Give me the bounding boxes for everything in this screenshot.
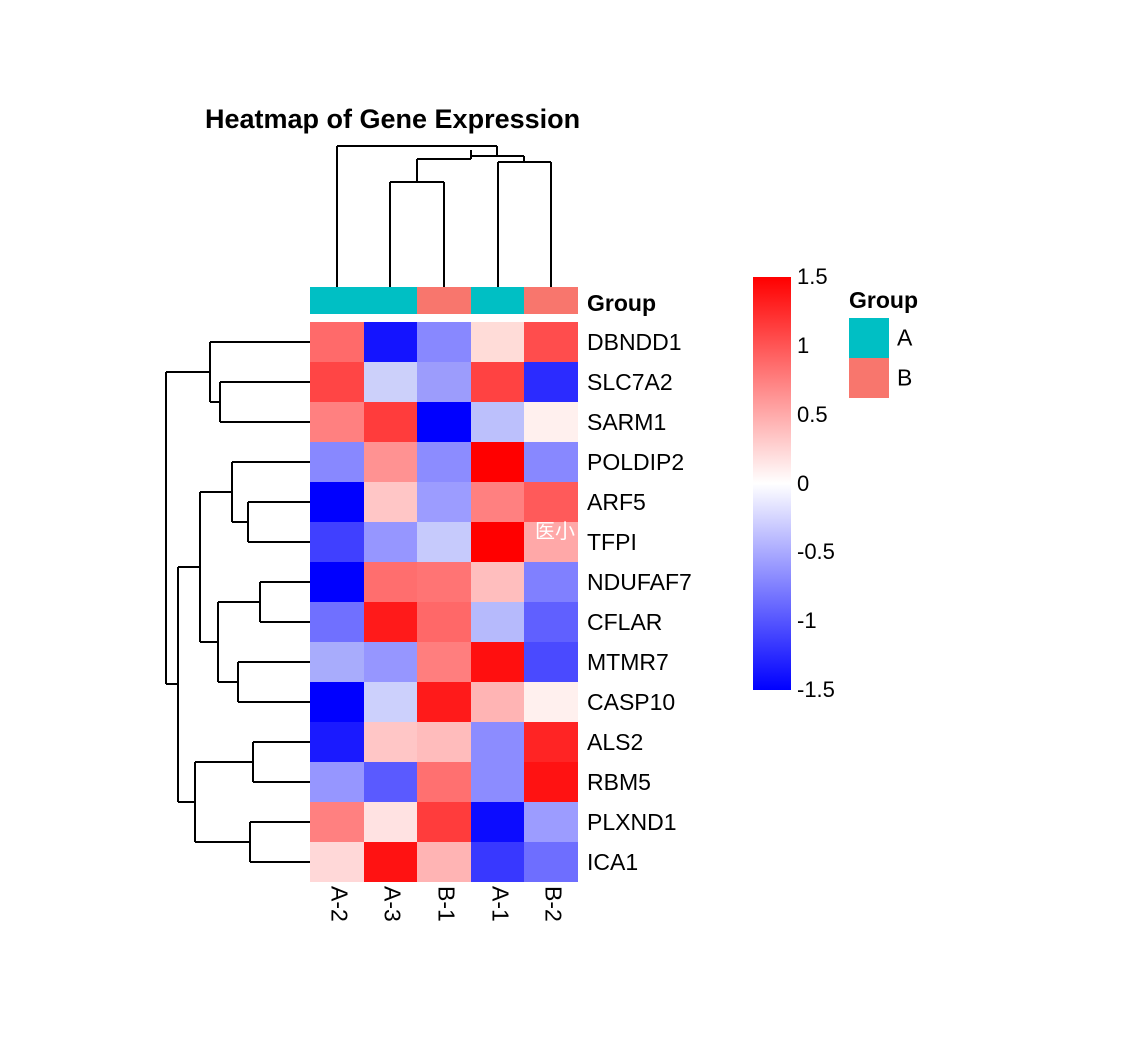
- heatmap-cell: [417, 482, 471, 522]
- heatmap-cell: [524, 442, 578, 482]
- heatmap-cell: [417, 762, 471, 802]
- heatmap-cell: [310, 362, 364, 402]
- heatmap-cell: [364, 522, 418, 562]
- row-label-als2: ALS2: [587, 722, 767, 762]
- heatmap-cell: [417, 442, 471, 482]
- colorbar-tick: 0.5: [797, 404, 828, 426]
- row-dendrogram: [160, 322, 310, 882]
- heatmap-cell: [417, 322, 471, 362]
- row-label-cflar: CFLAR: [587, 602, 767, 642]
- column-labels: A-2A-3B-1A-1B-2: [310, 886, 578, 966]
- legend-swatch-a: [849, 318, 889, 358]
- heatmap-cell: [417, 522, 471, 562]
- heatmap-cell: [417, 682, 471, 722]
- group-annotation-cell: [364, 287, 418, 314]
- heatmap-cell: [310, 562, 364, 602]
- heatmap-cell: [364, 802, 418, 842]
- heatmap-cell: [524, 562, 578, 602]
- column-label-a-3: A-3: [381, 886, 404, 922]
- colorbar-tick: 0: [797, 473, 809, 495]
- group-annotation-cell: [310, 287, 364, 314]
- heatmap-cell: [310, 442, 364, 482]
- heatmap-cell: [417, 642, 471, 682]
- heatmap-cell: [471, 482, 525, 522]
- heatmap-cell: [364, 762, 418, 802]
- column-label-a-2: A-2: [327, 886, 350, 922]
- heatmap-cell: [471, 642, 525, 682]
- column-label-b-2: B-2: [542, 886, 565, 922]
- colorbar-tick: 1.5: [797, 266, 828, 288]
- heatmap-cell: [310, 722, 364, 762]
- heatmap-cell: [471, 842, 525, 882]
- heatmap-cell: [524, 682, 578, 722]
- heatmap-figure: Heatmap of Gene Expression: [0, 0, 1132, 1060]
- legend-label-b: B: [897, 367, 912, 390]
- heatmap-cell: [417, 722, 471, 762]
- row-label-arf5: ARF5: [587, 482, 767, 522]
- column-dendrogram: [290, 140, 590, 288]
- heatmap-cell: [364, 562, 418, 602]
- heatmap-cell: [471, 322, 525, 362]
- heatmap-cell: [310, 482, 364, 522]
- heatmap-cell: [310, 602, 364, 642]
- heatmap-cell: [364, 362, 418, 402]
- column-label-cell: A-3: [364, 886, 418, 966]
- heatmap-cell: [471, 362, 525, 402]
- heatmap-cell: [364, 442, 418, 482]
- group-annotation-cell: [417, 287, 471, 314]
- heatmap-cell: [417, 602, 471, 642]
- heatmap-cell: [471, 762, 525, 802]
- heatmap-cell: [524, 642, 578, 682]
- column-label-cell: B-1: [417, 886, 471, 966]
- colorbar-tick: -0.5: [797, 541, 835, 563]
- row-label-plxnd1: PLXND1: [587, 802, 767, 842]
- heatmap-cell: [364, 722, 418, 762]
- column-label-b-1: B-1: [434, 886, 457, 922]
- heatmap-cell: [471, 562, 525, 602]
- heatmap-cell: [471, 442, 525, 482]
- heatmap-cell: [364, 322, 418, 362]
- heatmap-cell: [471, 522, 525, 562]
- row-label-dbndd1: DBNDD1: [587, 322, 767, 362]
- heatmap-cell: [524, 522, 578, 562]
- row-label-sarm1: SARM1: [587, 402, 767, 442]
- column-label-cell: A-2: [310, 886, 364, 966]
- colorbar-tick: -1: [797, 610, 817, 632]
- heatmap-cell: [417, 842, 471, 882]
- heatmap-cell: [524, 602, 578, 642]
- heatmap-cell: [310, 762, 364, 802]
- column-label-a-1: A-1: [488, 886, 511, 922]
- heatmap-cell: [471, 722, 525, 762]
- heatmap-cell: [364, 402, 418, 442]
- heatmap-cell: [524, 722, 578, 762]
- row-label-tfpi: TFPI: [587, 522, 767, 562]
- heatmap-grid: [310, 322, 578, 882]
- row-label-ica1: ICA1: [587, 842, 767, 882]
- colorbar-gradient: [753, 277, 791, 690]
- heatmap-cell: [524, 362, 578, 402]
- heatmap-cell: [310, 802, 364, 842]
- column-label-cell: A-1: [471, 886, 525, 966]
- heatmap-cell: [417, 562, 471, 602]
- column-group-annotation-bar: [310, 287, 578, 314]
- heatmap-cell: [417, 402, 471, 442]
- heatmap-cell: [471, 802, 525, 842]
- heatmap-cell: [524, 482, 578, 522]
- heatmap-cell: [524, 802, 578, 842]
- heatmap-cell: [364, 642, 418, 682]
- heatmap-cell: [310, 682, 364, 722]
- legend-title: Group: [849, 287, 918, 314]
- row-label-slc7a2: SLC7A2: [587, 362, 767, 402]
- heatmap-cell: [364, 602, 418, 642]
- legend-swatch-b: [849, 358, 889, 398]
- heatmap-cell: [471, 402, 525, 442]
- legend-label-a: A: [897, 327, 912, 350]
- heatmap-cell: [310, 322, 364, 362]
- heatmap-cell: [364, 842, 418, 882]
- row-label-rbm5: RBM5: [587, 762, 767, 802]
- heatmap-cell: [310, 642, 364, 682]
- row-label-casp10: CASP10: [587, 682, 767, 722]
- column-label-cell: B-2: [524, 886, 578, 966]
- group-annotation-label: Group: [587, 290, 656, 317]
- row-label-mtmr7: MTMR7: [587, 642, 767, 682]
- row-label-poldip2: POLDIP2: [587, 442, 767, 482]
- colorbar-tick: -1.5: [797, 679, 835, 701]
- page-title: Heatmap of Gene Expression: [205, 104, 580, 135]
- heatmap-cell: [524, 842, 578, 882]
- colorbar-tick: 1: [797, 335, 809, 357]
- heatmap-cell: [310, 842, 364, 882]
- group-annotation-cell: [524, 287, 578, 314]
- heatmap-cell: [310, 522, 364, 562]
- row-label-ndufaf7: NDUFAF7: [587, 562, 767, 602]
- heatmap-cell: [310, 402, 364, 442]
- heatmap-cell: [471, 602, 525, 642]
- heatmap-cell: [417, 802, 471, 842]
- heatmap-cell: [417, 362, 471, 402]
- legend-swatches: [849, 318, 889, 398]
- heatmap-cell: [524, 762, 578, 802]
- heatmap-cell: [524, 402, 578, 442]
- heatmap-cell: [524, 322, 578, 362]
- row-labels: DBNDD1SLC7A2SARM1POLDIP2ARF5TFPINDUFAF7C…: [587, 322, 767, 882]
- heatmap-cell: [364, 482, 418, 522]
- group-annotation-cell: [471, 287, 525, 314]
- heatmap-cell: [364, 682, 418, 722]
- heatmap-cell: [471, 682, 525, 722]
